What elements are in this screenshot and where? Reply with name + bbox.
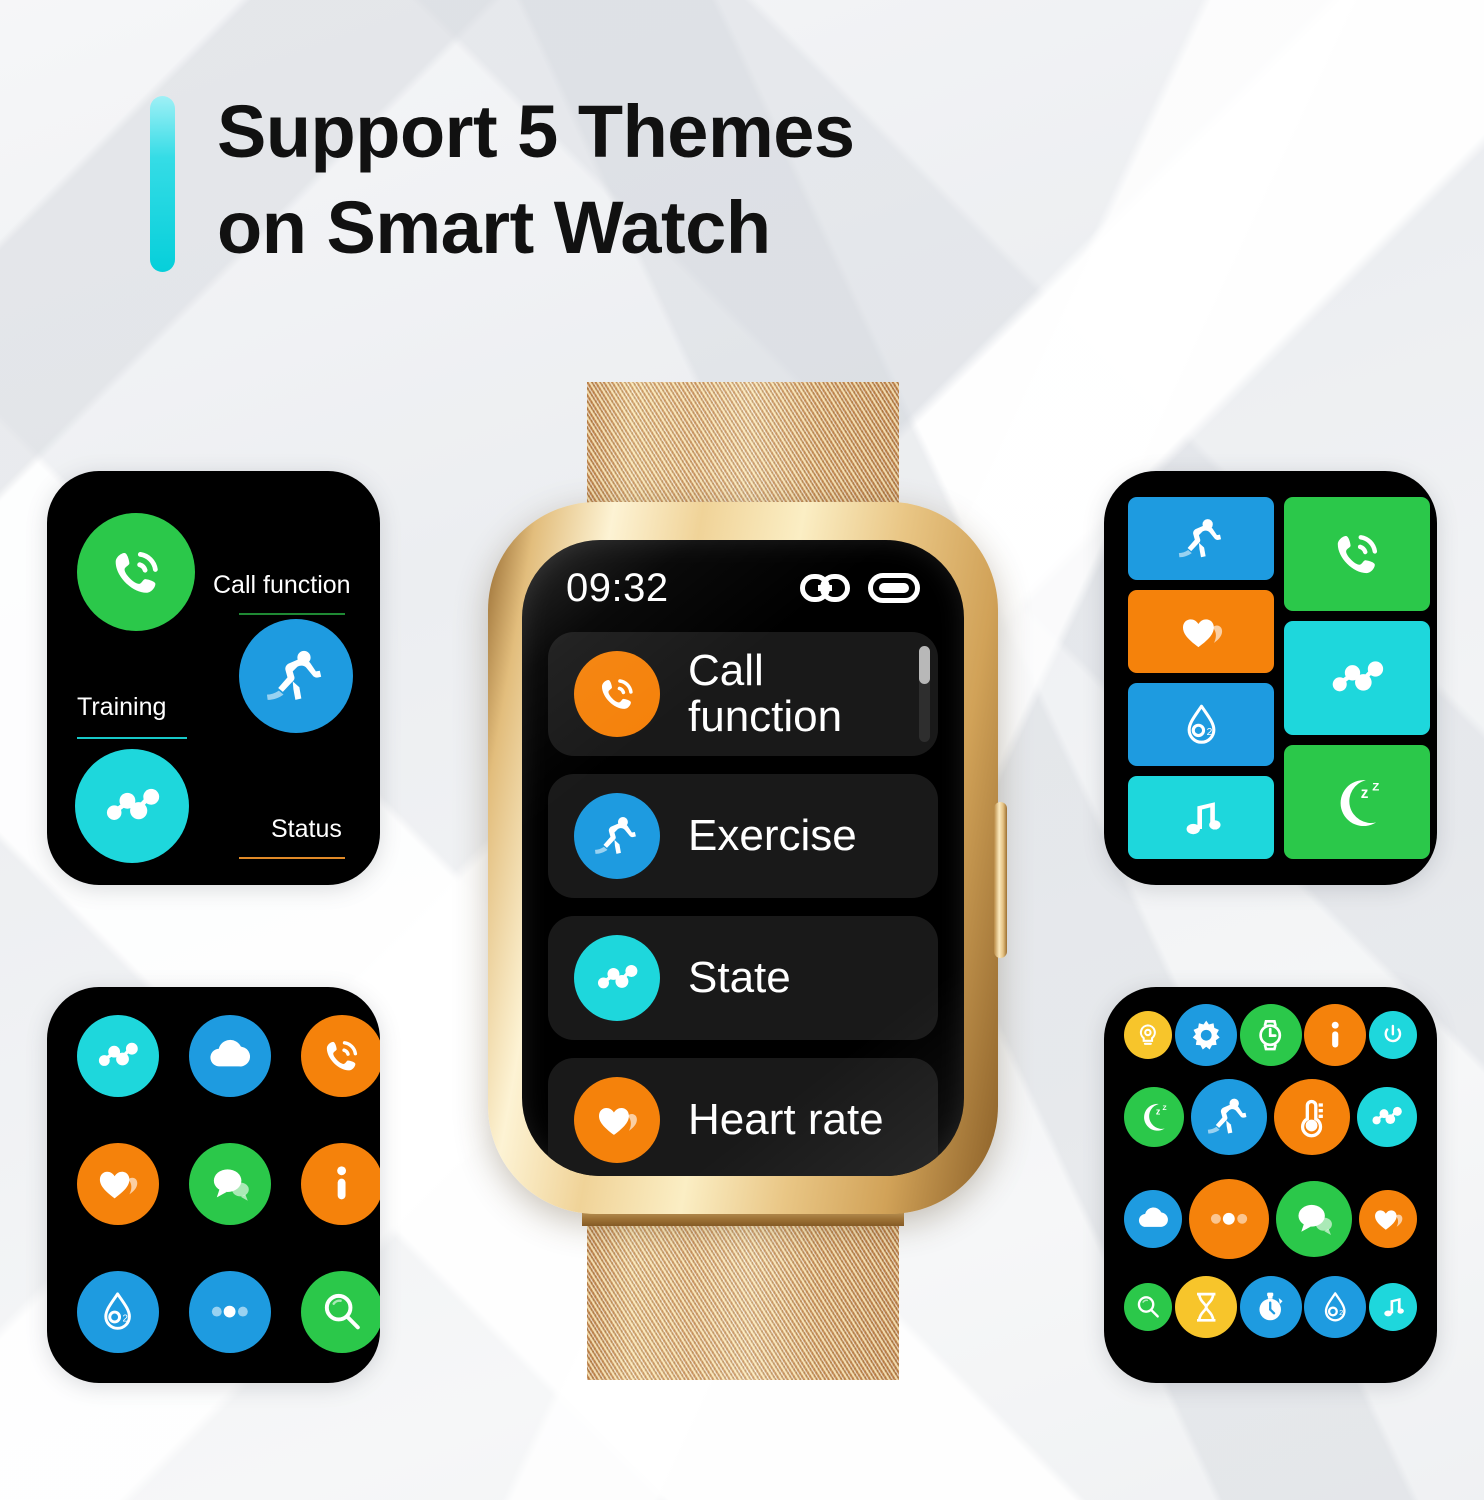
tile-runner-icon[interactable] bbox=[1128, 497, 1274, 580]
app-watch-clock-icon[interactable] bbox=[1240, 1004, 1302, 1066]
theme-preview-tile-grid[interactable]: 2zZ bbox=[1104, 471, 1437, 885]
menu-row-call-function[interactable]: Call function bbox=[548, 632, 938, 756]
chat-icon bbox=[205, 1159, 254, 1208]
app-menu-list[interactable]: Call function Exercise State Heart rate bbox=[548, 632, 938, 1176]
app-runner-icon[interactable] bbox=[1191, 1079, 1267, 1155]
app-cloud-icon[interactable] bbox=[1124, 1190, 1182, 1248]
app-gear-icon[interactable] bbox=[1175, 1004, 1237, 1066]
app-oxygen-drop-icon[interactable]: 2 bbox=[77, 1271, 159, 1353]
status-bar: 09:32 bbox=[522, 562, 964, 614]
sleep-moon-icon: zZ bbox=[1319, 770, 1395, 834]
svg-text:2: 2 bbox=[123, 1314, 128, 1325]
app-nodes-icon[interactable] bbox=[77, 1015, 159, 1097]
theme-preview-list-label[interactable]: Call function Training Status bbox=[47, 471, 380, 885]
cloud-icon bbox=[205, 1031, 254, 1080]
search-icon bbox=[317, 1287, 366, 1336]
menu-row-state[interactable]: State bbox=[548, 916, 938, 1040]
watch-side-button[interactable] bbox=[994, 802, 1007, 958]
app-chat-icon[interactable] bbox=[1276, 1181, 1352, 1257]
tile-oxygen-drop-icon[interactable]: 2 bbox=[1128, 683, 1274, 766]
app-hearts-icon[interactable] bbox=[77, 1143, 159, 1225]
hearts-icon bbox=[1165, 606, 1238, 657]
dots-icon bbox=[1204, 1194, 1254, 1244]
page-title: Support 5 Themes on Smart Watch bbox=[217, 84, 855, 276]
menu-row-label: Call function bbox=[688, 648, 842, 740]
phone-icon bbox=[77, 513, 195, 631]
svg-text:2: 2 bbox=[1206, 727, 1212, 738]
link-icon bbox=[800, 573, 850, 603]
hourglass-icon bbox=[1187, 1288, 1225, 1326]
menu-row-label: Heart rate bbox=[688, 1097, 884, 1143]
hearts-icon bbox=[574, 1077, 660, 1163]
tile-music-icon[interactable] bbox=[1128, 776, 1274, 859]
nodes-icon bbox=[592, 953, 642, 1003]
tl-label-0: Call function bbox=[213, 571, 351, 600]
power-icon bbox=[1378, 1020, 1408, 1050]
phone-icon bbox=[102, 538, 170, 606]
app-power-icon[interactable] bbox=[1369, 1011, 1417, 1059]
cloud-icon bbox=[1135, 1201, 1171, 1237]
music-icon bbox=[1378, 1292, 1408, 1322]
watch-band-top bbox=[587, 382, 899, 518]
app-dots-icon[interactable] bbox=[189, 1271, 271, 1353]
runner-icon bbox=[592, 811, 642, 861]
phone-icon bbox=[317, 1031, 366, 1080]
tl-rule-0 bbox=[239, 613, 345, 615]
oxygen-drop-icon: 2 bbox=[93, 1287, 142, 1336]
hearts-icon bbox=[93, 1159, 142, 1208]
nodes-icon bbox=[574, 935, 660, 1021]
app-hearts-icon[interactable] bbox=[1359, 1190, 1417, 1248]
tile-hearts-icon[interactable] bbox=[1128, 590, 1274, 673]
app-chat-icon[interactable] bbox=[189, 1143, 271, 1225]
clock-time: 09:32 bbox=[566, 566, 669, 611]
phone-icon bbox=[574, 651, 660, 737]
scrollbar-thumb[interactable] bbox=[919, 646, 930, 684]
dots-icon bbox=[205, 1287, 254, 1336]
app-stopwatch-icon[interactable] bbox=[1240, 1276, 1302, 1338]
app-dots-icon[interactable] bbox=[1189, 1179, 1269, 1259]
tl-rule-1 bbox=[77, 737, 187, 739]
smart-watch: 09:32 bbox=[470, 382, 1015, 1382]
app-sleep-moon-icon[interactable]: zZ bbox=[1124, 1087, 1184, 1147]
svg-text:Z: Z bbox=[1163, 1105, 1167, 1112]
nodes-icon bbox=[1319, 646, 1395, 710]
runner-icon bbox=[1165, 513, 1238, 564]
hearts-icon bbox=[592, 1095, 642, 1145]
bulb-icon bbox=[1133, 1020, 1163, 1050]
app-info-icon[interactable] bbox=[301, 1143, 380, 1225]
app-bulb-icon[interactable] bbox=[1124, 1011, 1172, 1059]
watch-case: 09:32 bbox=[488, 502, 998, 1214]
app-cloud-icon[interactable] bbox=[189, 1015, 271, 1097]
info-icon bbox=[1316, 1016, 1354, 1054]
chat-icon bbox=[1290, 1195, 1337, 1242]
runner-icon bbox=[1205, 1093, 1252, 1140]
search-icon bbox=[1133, 1292, 1163, 1322]
svg-text:z: z bbox=[1156, 1107, 1161, 1117]
runner-icon bbox=[239, 619, 353, 733]
menu-row-label: Exercise bbox=[688, 813, 857, 859]
app-phone-icon[interactable] bbox=[301, 1015, 380, 1097]
watch-clock-icon bbox=[1251, 1016, 1289, 1054]
nodes-icon bbox=[75, 749, 189, 863]
battery-icon bbox=[868, 573, 920, 603]
hearts-icon bbox=[1370, 1201, 1406, 1237]
phone-icon bbox=[592, 669, 642, 719]
headline-block: Support 5 Themes on Smart Watch bbox=[150, 96, 855, 276]
app-search-icon[interactable] bbox=[301, 1271, 380, 1353]
svg-text:Z: Z bbox=[1372, 782, 1379, 794]
app-music-icon[interactable] bbox=[1369, 1283, 1417, 1331]
nodes-icon bbox=[1368, 1098, 1405, 1135]
nodes-icon bbox=[93, 1031, 142, 1080]
app-nodes-icon[interactable] bbox=[1357, 1087, 1417, 1147]
tile-phone-icon[interactable] bbox=[1284, 497, 1430, 611]
app-hourglass-icon[interactable] bbox=[1175, 1276, 1237, 1338]
info-icon bbox=[317, 1159, 366, 1208]
oxygen-drop-icon: 2 bbox=[1316, 1288, 1354, 1326]
nodes-icon bbox=[99, 773, 165, 839]
svg-text:z: z bbox=[1361, 785, 1369, 802]
tl-label-1: Training bbox=[77, 693, 166, 722]
tl-rule-2 bbox=[239, 857, 345, 859]
gear-icon bbox=[1187, 1016, 1225, 1054]
watch-band-bottom bbox=[587, 1220, 899, 1380]
watch-screen[interactable]: 09:32 bbox=[522, 540, 964, 1176]
tl-label-2: Status bbox=[271, 815, 342, 844]
svg-text:2: 2 bbox=[1339, 1308, 1343, 1317]
phone-icon bbox=[1319, 522, 1395, 586]
app-search-icon[interactable] bbox=[1124, 1283, 1172, 1331]
music-icon bbox=[1165, 792, 1238, 843]
theme-preview-circle-grid[interactable]: 2 bbox=[47, 987, 380, 1383]
accent-bar bbox=[150, 96, 175, 272]
app-info-icon[interactable] bbox=[1304, 1004, 1366, 1066]
runner-icon bbox=[263, 643, 329, 709]
thermometer-icon bbox=[1288, 1093, 1335, 1140]
theme-preview-honeycomb-grid[interactable]: zZ2 bbox=[1104, 987, 1437, 1383]
menu-row-heart-rate[interactable]: Heart rate bbox=[548, 1058, 938, 1176]
tile-sleep-moon-icon[interactable]: zZ bbox=[1284, 745, 1430, 859]
app-thermometer-icon[interactable] bbox=[1274, 1079, 1350, 1155]
runner-icon bbox=[574, 793, 660, 879]
sleep-moon-icon: zZ bbox=[1135, 1098, 1172, 1135]
menu-row-exercise[interactable]: Exercise bbox=[548, 774, 938, 898]
stopwatch-icon bbox=[1251, 1288, 1289, 1326]
tile-nodes-icon[interactable] bbox=[1284, 621, 1430, 735]
oxygen-drop-icon: 2 bbox=[1165, 699, 1238, 750]
menu-row-label: State bbox=[688, 955, 791, 1001]
app-oxygen-drop-icon[interactable]: 2 bbox=[1304, 1276, 1366, 1338]
